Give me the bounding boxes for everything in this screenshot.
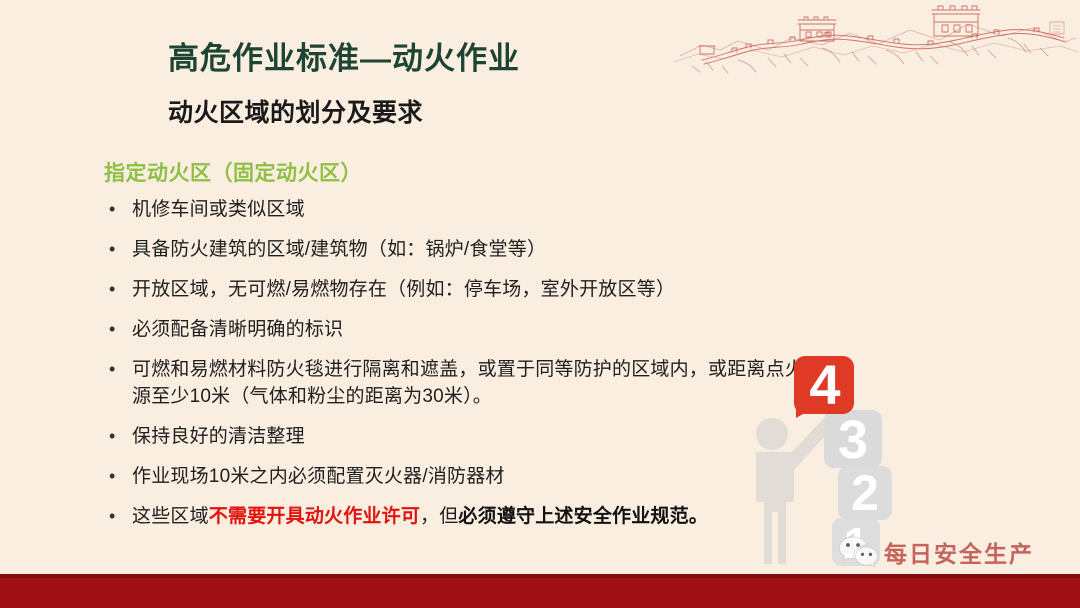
watermark: 每日安全生产 [838, 534, 1034, 570]
number-block-1: 1 [832, 518, 880, 568]
list-item-highlighted: • 这些区域不需要开具动火作业许可，但必须遵守上述安全作业规范。 [104, 503, 804, 530]
page-subtitle: 动火区域的划分及要求 [168, 93, 423, 129]
svg-text:1: 1 [844, 519, 868, 568]
text-segment-bold: 必须遵守上述安全作业规范。 [458, 506, 708, 527]
page-title: 高危作业标准—动火作业 [168, 33, 520, 78]
list-item-text: 作业现场10米之内必须配置灭火器/消防器材 [132, 463, 804, 490]
list-item: • 可燃和易燃材料防火毯进行隔离和遮盖，或置于同等防护的区域内，或距离点火源至少… [104, 356, 804, 410]
wechat-icon [838, 534, 878, 570]
section-heading: 指定动火区（固定动火区） [104, 157, 362, 187]
list-item: • 开放区域，无可燃/易燃物存在（例如：停车场，室外开放区等） [104, 276, 804, 303]
list-item-text: 保持良好的清洁整理 [132, 423, 804, 450]
list-item-text: 必须配备清晰明确的标识 [132, 316, 804, 343]
list-item: • 必须配备清晰明确的标识 [104, 316, 804, 343]
bullet-dot-icon: • [104, 463, 132, 489]
list-item-text: 可燃和易燃材料防火毯进行隔离和遮盖，或置于同等防护的区域内，或距离点火源至少10… [132, 356, 804, 410]
bullet-dot-icon: • [104, 316, 132, 342]
list-item-text-rich: 这些区域不需要开具动火作业许可，但必须遵守上述安全作业规范。 [132, 503, 804, 530]
watermark-text: 每日安全生产 [884, 535, 1034, 569]
bullet-dot-icon: • [104, 276, 132, 302]
list-item-text: 开放区域，无可燃/易燃物存在（例如：停车场，室外开放区等） [132, 276, 804, 303]
number-block-2: 2 [838, 465, 892, 521]
bullet-dot-icon: • [104, 196, 132, 222]
bullet-dot-icon: • [104, 236, 132, 262]
bottom-bar [0, 578, 1080, 608]
list-item: • 作业现场10米之内必须配置灭火器/消防器材 [104, 463, 804, 490]
svg-text:4: 4 [809, 353, 840, 416]
bullet-dot-icon: • [104, 356, 132, 382]
slide-canvas: 高危作业标准—动火作业 动火区域的划分及要求 指定动火区（固定动火区） • 机修… [0, 0, 1080, 608]
bullet-dot-icon: • [104, 503, 132, 529]
list-item: • 保持良好的清洁整理 [104, 423, 804, 450]
list-item: • 具备防火建筑的区域/建筑物（如：锅炉/食堂等） [104, 236, 804, 263]
number-block-3: 3 [824, 410, 882, 470]
text-segment-normal: 这些区域 [132, 506, 209, 527]
bullet-list: • 机修车间或类似区域 • 具备防火建筑的区域/建筑物（如：锅炉/食堂等） • … [104, 196, 804, 543]
list-item-text: 机修车间或类似区域 [132, 196, 804, 223]
svg-text:3: 3 [838, 410, 868, 470]
list-item-text: 具备防火建筑的区域/建筑物（如：锅炉/食堂等） [132, 236, 804, 263]
list-item: • 机修车间或类似区域 [104, 196, 804, 223]
great-wall-illustration [672, 0, 1080, 78]
bullet-dot-icon: • [104, 423, 132, 449]
text-segment-red: 不需要开具动火作业许可 [209, 506, 420, 527]
text-segment-normal: ，但 [420, 506, 458, 527]
svg-text:2: 2 [851, 465, 879, 521]
